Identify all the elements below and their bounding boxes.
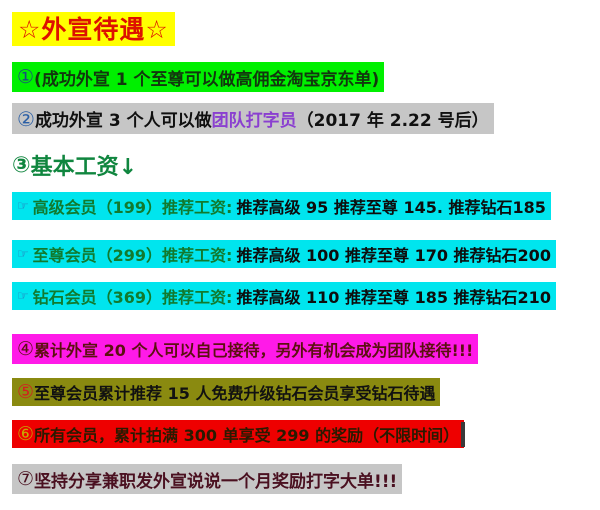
- item-1-row: ① (成功外宣 1 个至尊可以做高佣金淘宝京东单): [12, 62, 384, 92]
- item-6-marker: ⑥: [17, 423, 34, 445]
- salary-row-supreme-level: 至尊会员（299）推荐工资:: [33, 242, 233, 266]
- item-5-row: ⑤ 至尊会员累计推荐 15 人免费升级钻石会员享受钻石待遇: [12, 378, 440, 406]
- salary-row-diamond: ☞ 钻石会员（369）推荐工资: 推荐高级 110 推荐至尊 185 推荐钻石2…: [12, 282, 556, 310]
- salary-row-senior-detail: 推荐高级 95 推荐至尊 145. 推荐钻石185: [236, 194, 545, 218]
- pointing-hand-icon: ☞: [17, 247, 29, 262]
- salary-row-supreme-detail: 推荐高级 100 推荐至尊 170 推荐钻石200: [236, 242, 550, 266]
- pointing-hand-icon: ☞: [17, 199, 29, 214]
- item-3-marker: ③: [12, 153, 31, 178]
- item-4-marker: ④: [17, 338, 34, 360]
- salary-row-supreme: ☞ 至尊会员（299）推荐工资: 推荐高级 100 推荐至尊 170 推荐钻石2…: [12, 240, 556, 268]
- item-3-heading-row: ③ 基本工资↓: [12, 150, 137, 180]
- item-7-row: ⑦ 坚持分享兼职发外宣说说一个月奖励打字大单!!!: [12, 464, 402, 494]
- item-2-highlight: 团队打字员: [212, 106, 297, 131]
- salary-row-senior-level: 高级会员（199）推荐工资:: [33, 194, 233, 218]
- item-1-text: (成功外宣 1 个至尊可以做高佣金淘宝京东单): [34, 65, 379, 90]
- item-6-row: ⑥ 所有会员，累计拍满 300 单享受 299 的奖励（不限时间）: [12, 420, 464, 448]
- item-2-text-before: 成功外宣 3 个人可以做: [35, 106, 212, 131]
- item-2-row: ② 成功外宣 3 个人可以做 团队打字员 （2017 年 2.22 号后）: [12, 103, 494, 134]
- item-6-text: 所有会员，累计拍满 300 单享受 299 的奖励（不限时间）: [34, 422, 459, 446]
- salary-row-diamond-level: 钻石会员（369）推荐工资:: [33, 284, 233, 308]
- pointing-hand-icon: ☞: [17, 289, 29, 304]
- item-7-marker: ⑦: [17, 468, 34, 490]
- text-cursor-caret: [461, 422, 465, 447]
- page-title-banner: ☆外宣待遇☆: [12, 12, 175, 46]
- item-3-text: 基本工资↓: [31, 149, 137, 181]
- item-5-text: 至尊会员累计推荐 15 人免费升级钻石会员享受钻石待遇: [34, 380, 435, 404]
- salary-row-diamond-detail: 推荐高级 110 推荐至尊 185 推荐钻石210: [236, 284, 550, 308]
- page-title: ☆外宣待遇☆: [18, 17, 169, 42]
- item-2-marker: ②: [17, 107, 35, 131]
- item-7-text: 坚持分享兼职发外宣说说一个月奖励打字大单!!!: [34, 467, 397, 492]
- item-2-text-after: （2017 年 2.22 号后）: [297, 106, 489, 131]
- item-4-row: ④ 累计外宣 20 个人可以自己接待，另外有机会成为团队接待!!!: [12, 334, 478, 364]
- item-5-marker: ⑤: [17, 381, 34, 403]
- salary-row-senior: ☞ 高级会员（199）推荐工资: 推荐高级 95 推荐至尊 145. 推荐钻石1…: [12, 192, 551, 220]
- item-4-text: 累计外宣 20 个人可以自己接待，另外有机会成为团队接待!!!: [34, 337, 473, 361]
- item-1-marker: ①: [17, 66, 34, 88]
- document-page: ☆外宣待遇☆ ① (成功外宣 1 个至尊可以做高佣金淘宝京东单) ② 成功外宣 …: [0, 0, 600, 510]
